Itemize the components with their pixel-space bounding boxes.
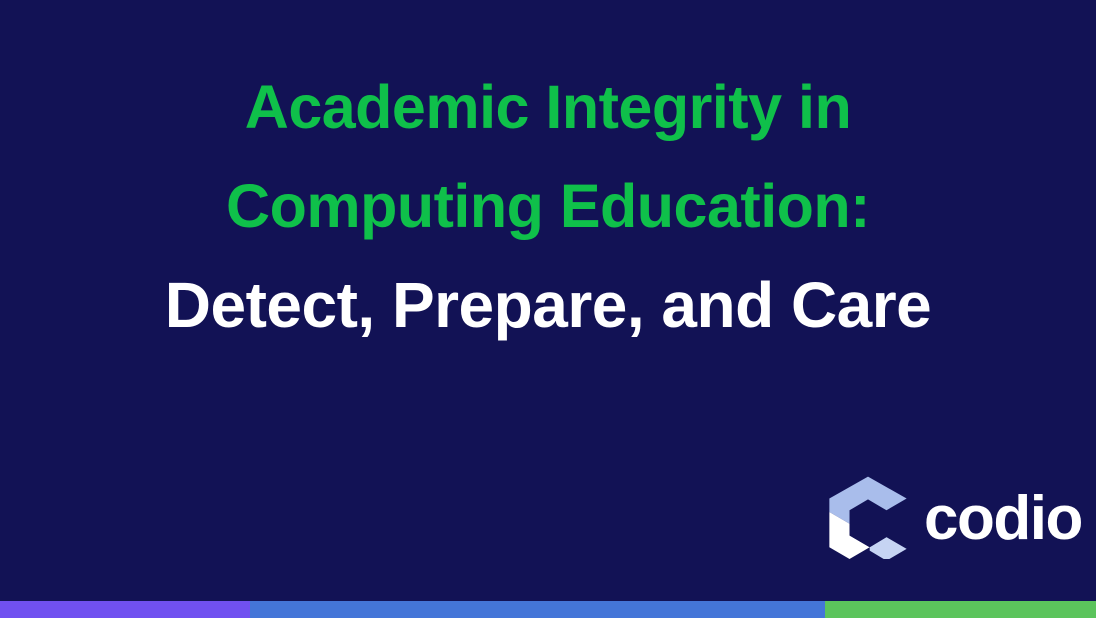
bottom-accent-bar bbox=[0, 601, 1096, 618]
title-line-2: Computing Education: bbox=[0, 157, 1096, 256]
page-title: Academic Integrity in Computing Educatio… bbox=[0, 58, 1096, 355]
codio-isometric-c-logo-icon bbox=[826, 475, 910, 559]
codio-wordmark: codio bbox=[924, 488, 1082, 550]
accent-segment-blue bbox=[250, 601, 825, 618]
slide-canvas: Academic Integrity in Computing Educatio… bbox=[0, 0, 1096, 618]
title-line-3-subtitle: Detect, Prepare, and Care bbox=[0, 256, 1096, 355]
accent-segment-green bbox=[825, 601, 1096, 618]
title-line-1: Academic Integrity in bbox=[0, 58, 1096, 157]
accent-segment-purple bbox=[0, 601, 250, 618]
codio-logo: codio bbox=[826, 474, 1078, 560]
